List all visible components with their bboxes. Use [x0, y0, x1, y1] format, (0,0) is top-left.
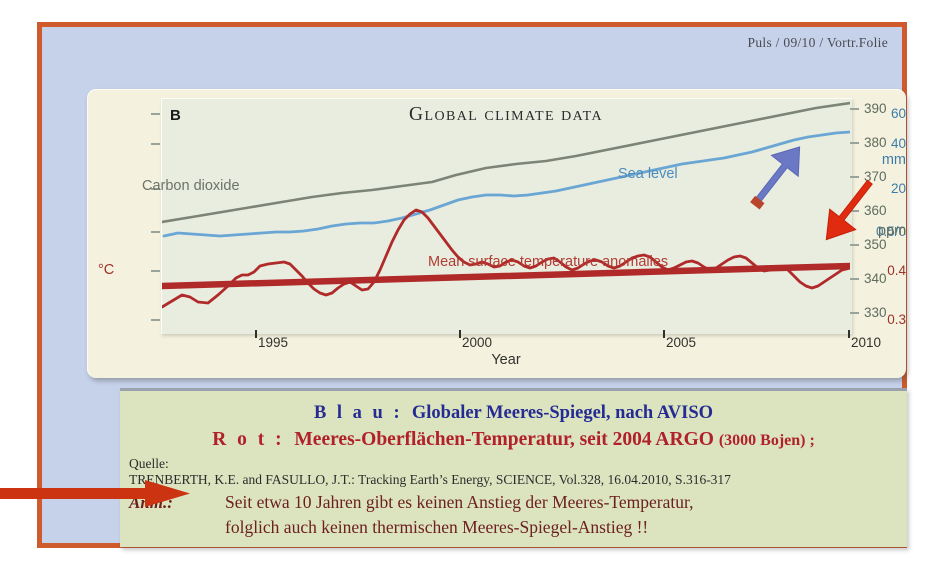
source-citation: TRENBERTH, K.E. and FASULLO, J.T.: Track…: [129, 472, 731, 488]
legend-red-tail: (3000 Bojen) ;: [719, 432, 815, 449]
legend-red-line: R o t : Meeres-Oberflächen-Temperatur, s…: [120, 429, 907, 451]
source-label: Quelle:: [129, 456, 169, 472]
notes-card: B l a u : Globaler Meeres-Spiegel, nach …: [120, 388, 907, 547]
slide-root: Puls / 09/10 / Vortr.Folie Global climat…: [0, 0, 944, 582]
legend-red-text: Meeres-Oberflächen-Temperatur, seit 2004…: [294, 429, 714, 450]
legend-blue-text: Globaler Meeres-Spiegel, nach AVISO: [412, 403, 713, 423]
legend-blue-line: B l a u : Globaler Meeres-Spiegel, nach …: [120, 403, 907, 424]
legend-blue-key: B l a u :: [314, 403, 403, 423]
note-key: Anm.:: [129, 493, 173, 513]
chart-inner: Global climate data B 60 40 mm 20 0.5/0 …: [88, 90, 906, 378]
note-line-1: Seit etwa 10 Jahren gibt es keinen Ansti…: [225, 492, 693, 513]
slide-header-text: Puls / 09/10 / Vortr.Folie: [748, 35, 888, 51]
chart-card: Global climate data B 60 40 mm 20 0.5/0 …: [87, 89, 906, 378]
annotation-arrows: [88, 90, 906, 378]
sea-level-up-arrow: [741, 136, 813, 215]
temperature-down-arrow: [814, 173, 884, 250]
legend-red-key: R o t :: [212, 429, 284, 450]
notes-inner: B l a u : Globaler Meeres-Spiegel, nach …: [120, 391, 907, 547]
slide-frame: Puls / 09/10 / Vortr.Folie Global climat…: [37, 22, 907, 548]
note-line-2: folglich auch keinen thermischen Meeres-…: [225, 517, 648, 538]
